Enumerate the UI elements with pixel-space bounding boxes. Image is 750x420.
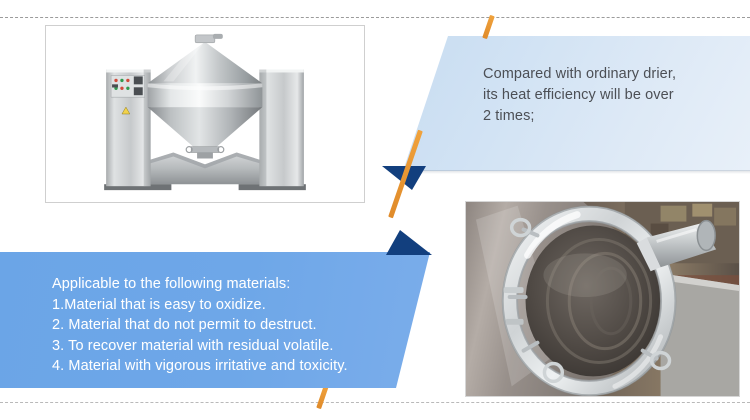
dashed-divider-top [0,17,750,18]
heat-efficiency-banner: Compared with ordinary drier, its heat e… [395,30,750,175]
vessel-manhole-illustration [466,202,739,396]
photo-double-cone-dryer [45,25,365,203]
infographic-canvas: Compared with ordinary drier, its heat e… [0,0,750,420]
applicable-materials-banner: Applicable to the following materials: 1… [0,244,436,394]
photo-double-cone-dryer-image [46,26,364,202]
fold-triangle-blue-banner [386,230,432,255]
heat-efficiency-banner-shadow [405,170,750,174]
applicable-materials-banner-text: Applicable to the following materials: 1… [52,274,412,377]
heat-efficiency-banner-text: Compared with ordinary drier, its heat e… [483,64,733,127]
photo-vessel-manhole-port [465,201,740,397]
photo-vessel-manhole-port-image [466,202,739,396]
double-cone-dryer-illustration [46,26,364,202]
dashed-divider-bottom [0,402,750,403]
